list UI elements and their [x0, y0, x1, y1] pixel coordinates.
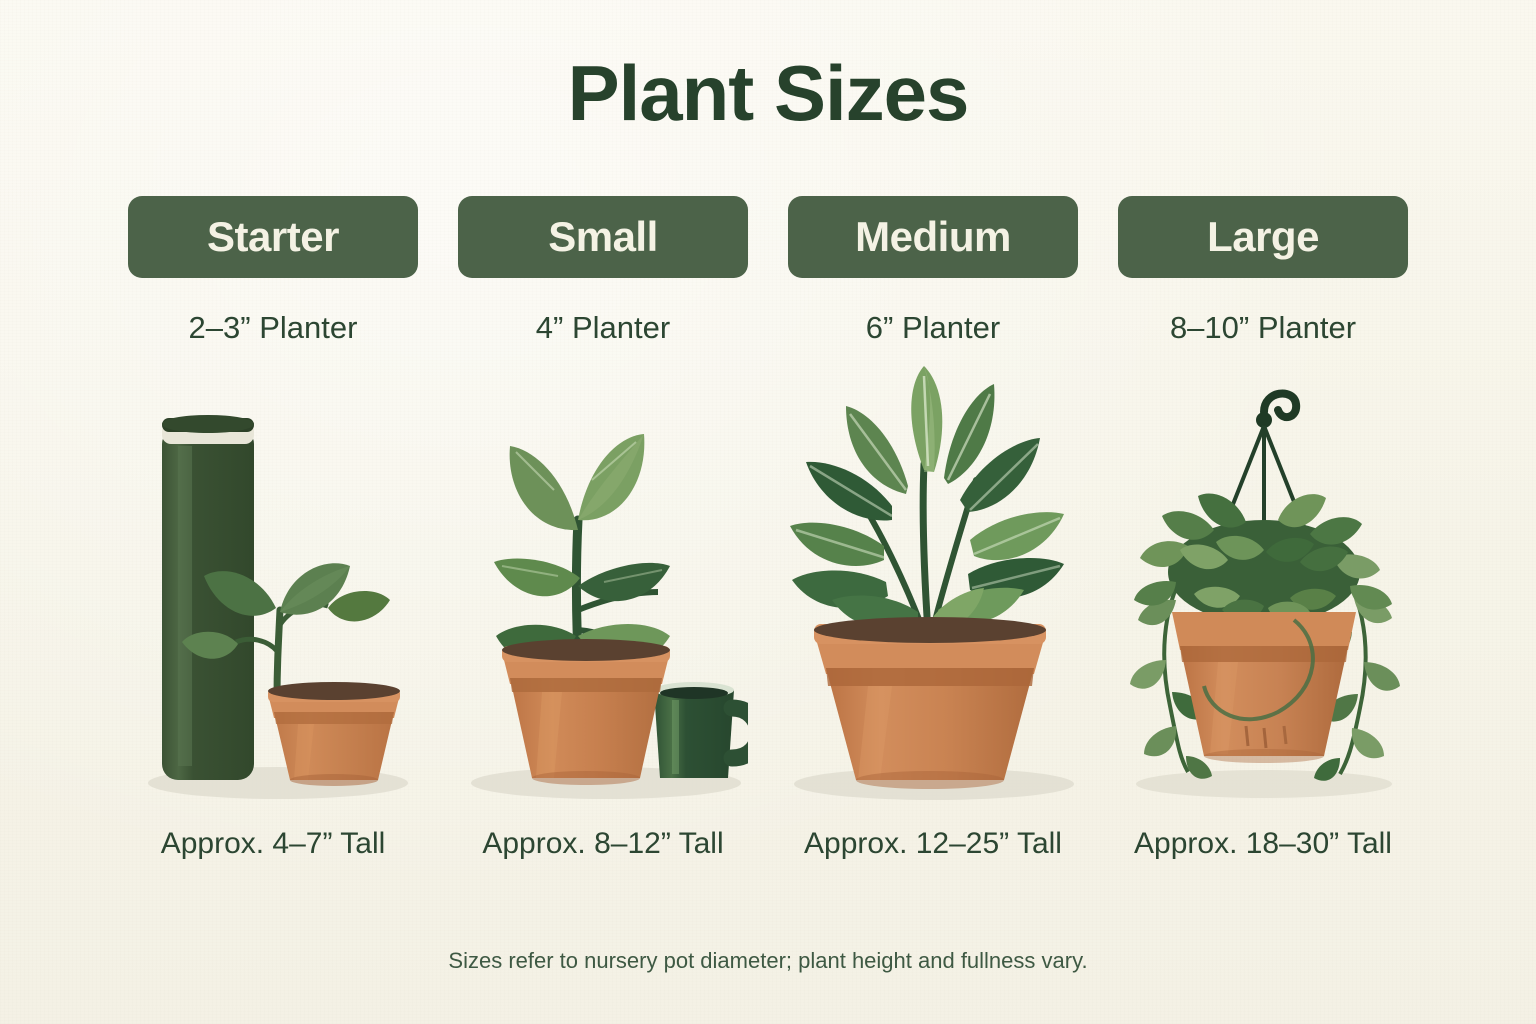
size-badge-row: Starter 2–3” Planter Small 4” Planter Me… — [128, 196, 1408, 346]
size-badge-medium[interactable]: Medium — [788, 196, 1078, 278]
size-column-large: Large 8–10” Planter — [1118, 196, 1408, 346]
coffee-mug-icon — [654, 682, 748, 778]
height-large: Approx. 18–30” Tall — [1118, 818, 1408, 871]
terracotta-pot — [502, 639, 670, 785]
footnote: Sizes refer to nursery pot diameter; pla… — [0, 948, 1536, 974]
plant-sizes-infographic: Plant Sizes Starter 2–3” Planter Small 4… — [0, 0, 1536, 1024]
illustration-small — [458, 360, 748, 800]
page-title: Plant Sizes — [0, 48, 1536, 139]
size-badge-large[interactable]: Large — [1118, 196, 1408, 278]
height-small: Approx. 8–12” Tall — [458, 818, 748, 871]
hanging-terracotta-pot — [1172, 612, 1356, 763]
illustration-stage — [128, 360, 1408, 800]
planter-size-small: 4” Planter — [536, 310, 670, 346]
size-badge-small[interactable]: Small — [458, 196, 748, 278]
size-column-medium: Medium 6” Planter — [788, 196, 1078, 346]
size-column-small: Small 4” Planter — [458, 196, 748, 346]
ground-shadow — [1136, 770, 1392, 798]
size-column-starter: Starter 2–3” Planter — [128, 196, 418, 346]
height-medium: Approx. 12–25” Tall — [788, 818, 1078, 871]
planter-size-starter: 2–3” Planter — [189, 310, 358, 346]
terracotta-pot — [814, 617, 1046, 789]
height-label-row: Approx. 4–7” Tall Approx. 8–12” Tall App… — [128, 818, 1408, 871]
illustration-large — [1118, 360, 1408, 800]
illustration-starter — [128, 360, 418, 800]
height-starter: Approx. 4–7” Tall — [128, 818, 418, 871]
illustration-medium — [788, 360, 1078, 800]
bushy-plant — [790, 366, 1064, 636]
planter-size-large: 8–10” Planter — [1170, 310, 1356, 346]
planter-size-medium: 6” Planter — [866, 310, 1000, 346]
terracotta-pot — [268, 682, 400, 786]
size-badge-starter[interactable]: Starter — [128, 196, 418, 278]
